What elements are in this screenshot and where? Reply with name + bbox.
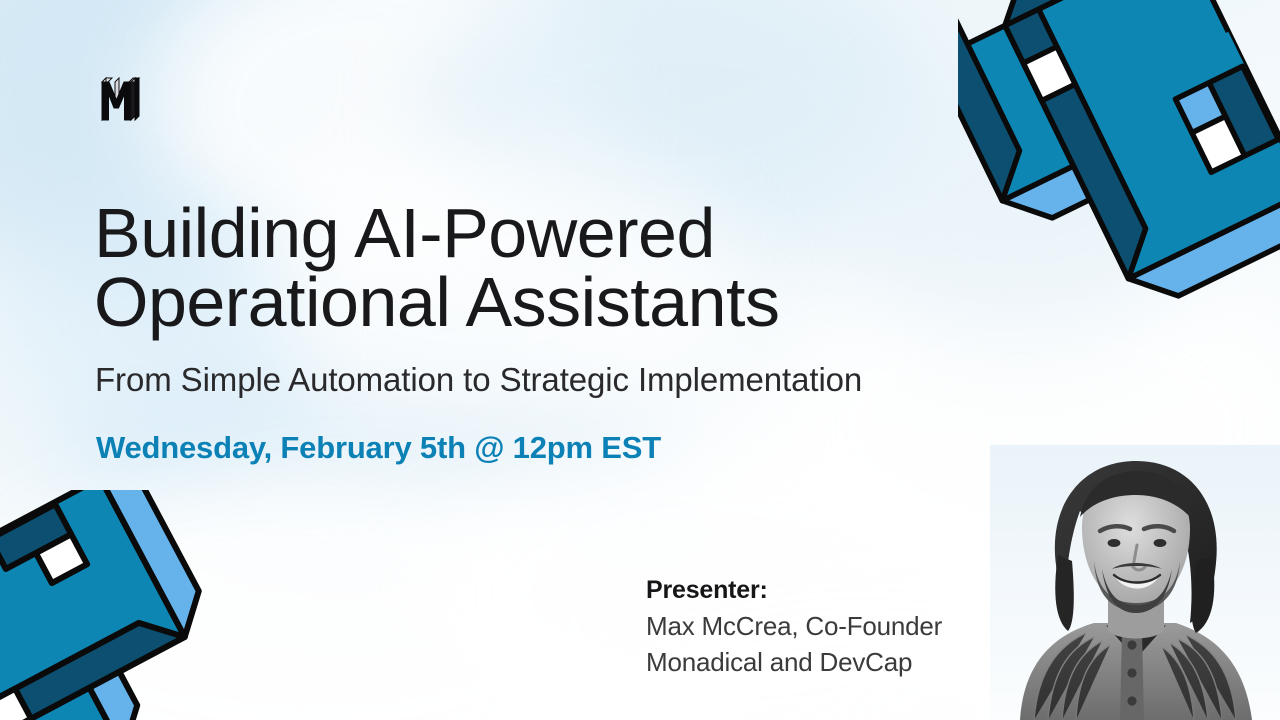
- headline-line-2: Operational Assistants: [94, 268, 934, 337]
- presenter-company: Monadical and DevCap: [646, 644, 942, 681]
- presenter-label: Presenter:: [646, 573, 942, 608]
- headline-line-1: Building AI-Powered: [94, 199, 934, 268]
- monadical-m-logo-icon: [96, 72, 152, 128]
- event-datetime: Wednesday, February 5th @ 12pm EST: [96, 430, 661, 466]
- presenter-photo: [990, 445, 1280, 720]
- page-title: Building AI-Powered Operational Assistan…: [94, 199, 934, 338]
- subtitle: From Simple Automation to Strategic Impl…: [95, 362, 862, 398]
- isometric-m-logo-icon: [958, 0, 1280, 318]
- presenter-name-title: Max McCrea, Co-Founder: [646, 608, 942, 645]
- presenter-block: Presenter: Max McCrea, Co-Founder Monadi…: [646, 573, 942, 681]
- webinar-title-slide: Building AI-Powered Operational Assistan…: [0, 0, 1280, 720]
- isometric-m-logo-icon: [0, 490, 214, 720]
